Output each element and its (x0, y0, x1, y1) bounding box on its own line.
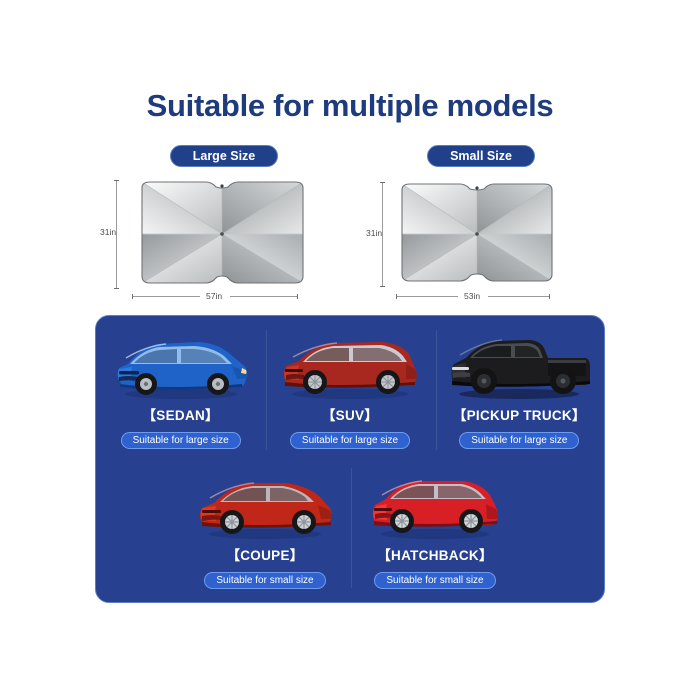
dimension-cap (380, 182, 385, 183)
sunshade-icon-large (130, 178, 315, 288)
dimension-line-width-large (132, 296, 200, 297)
vehicle-label: 【SEDAN】 (142, 404, 218, 424)
vehicle-label: 【HATCHBACK】 (377, 544, 493, 564)
vehicle-label: 【PICKUP TRUCK】 (453, 404, 586, 424)
vehicle-compatibility-panel: 【SEDAN】 Suitable for large size (95, 315, 605, 603)
vehicle-label: 【COUPE】 (226, 544, 303, 564)
vehicle-label: 【SUV】 (322, 404, 378, 424)
dimension-cap (396, 294, 397, 299)
size-pill-small: Small Size (427, 145, 535, 167)
sunshade-icon-small (392, 180, 562, 286)
dimension-cap (297, 294, 298, 299)
dimension-cap (132, 294, 133, 299)
fit-badge: Suitable for large size (290, 432, 410, 449)
dimension-height-small: 31in (366, 228, 382, 238)
pickup-truck-icon (444, 324, 594, 402)
vehicle-cell-hatchback[interactable]: 【HATCHBACK】 Suitable for small size (350, 458, 520, 589)
dimension-cap (114, 288, 119, 289)
hatchback-icon (360, 464, 510, 542)
infographic-page: Suitable for multiple models Large Size … (0, 0, 700, 700)
dimension-line-height-small (382, 182, 383, 286)
dimension-cap (114, 180, 119, 181)
dimension-width-small: 53in (464, 291, 480, 301)
vehicle-cell-suv[interactable]: 【SUV】 Suitable for large size (265, 318, 434, 449)
vehicle-cell-pickup-truck[interactable]: 【PICKUP TRUCK】 Suitable for large size (435, 318, 604, 449)
sedan-icon (106, 324, 256, 402)
page-title: Suitable for multiple models (0, 88, 700, 124)
vehicle-cell-coupe[interactable]: 【COUPE】 Suitable for small size (180, 458, 350, 589)
size-pill-large: Large Size (170, 145, 278, 167)
vehicle-row-small: 【COUPE】 Suitable for small size (96, 458, 604, 589)
dimension-cap (380, 286, 385, 287)
fit-badge: Suitable for small size (204, 572, 325, 589)
vehicle-row-large: 【SEDAN】 Suitable for large size (96, 318, 604, 449)
dimension-cap (549, 294, 550, 299)
dimension-line-height-large (116, 180, 117, 288)
suv-wagon-icon (275, 324, 425, 402)
dimension-line-width-small-right (488, 296, 550, 297)
vehicle-cell-sedan[interactable]: 【SEDAN】 Suitable for large size (96, 318, 265, 449)
fit-badge: Suitable for large size (121, 432, 241, 449)
coupe-icon (190, 464, 340, 542)
fit-badge: Suitable for small size (374, 572, 495, 589)
dimension-width-large: 57in (206, 291, 222, 301)
dimension-line-width-large-right (230, 296, 298, 297)
dimension-height-large: 31in (100, 227, 116, 237)
fit-badge: Suitable for large size (459, 432, 579, 449)
dimension-line-width-small (396, 296, 458, 297)
